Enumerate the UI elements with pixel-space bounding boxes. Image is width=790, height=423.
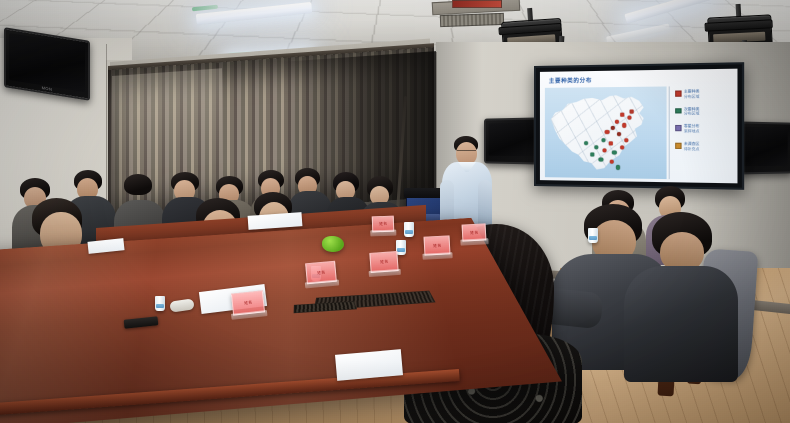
- name-placard-1: 姓名: [305, 261, 337, 285]
- slide-body: 主要种类分布区域次要种类分布区域零星分布采样地点未调查区待补充点: [545, 86, 732, 180]
- legend-swatch-2: [675, 125, 681, 131]
- name-placard-3: 姓名: [424, 235, 451, 255]
- table-green-item-0: [322, 236, 344, 252]
- map-marker-19: [616, 165, 620, 169]
- wall-monitor-center-screen: [489, 123, 539, 157]
- projection-screen[interactable]: 主要种类的分布 主要种类分布区域次要种类分布区域零星分布采样地点未调查区待补充点: [534, 62, 744, 190]
- wall-monitor-left-brand: MON: [42, 85, 53, 92]
- name-placard-4: 姓名: [462, 223, 487, 241]
- name-placard-2: 姓名: [369, 251, 398, 273]
- attendee-right-front-2: [624, 212, 740, 382]
- water-cup-4: [588, 228, 598, 243]
- ceiling-panel-red: [452, 0, 502, 8]
- map-markers: [545, 86, 667, 87]
- legend-item-2: 零星分布采样地点: [675, 124, 730, 134]
- map-marker-5: [629, 110, 633, 114]
- name-placard-text-1: 姓名: [317, 269, 326, 275]
- name-placard-5: 姓名: [372, 216, 395, 233]
- china-map: [545, 86, 667, 179]
- name-placard-text-5: 姓名: [379, 221, 388, 227]
- presentation-slide: 主要种类的分布 主要种类分布区域次要种类分布区域零星分布采样地点未调查区待补充点: [540, 69, 738, 184]
- map-marker-14: [590, 152, 594, 156]
- ceiling-vent-1: [440, 13, 504, 27]
- map-marker-9: [609, 142, 613, 146]
- province-borders: [549, 91, 657, 174]
- map-marker-13: [620, 145, 624, 149]
- name-placard-text-3: 姓名: [433, 242, 442, 248]
- legend-swatch-3: [675, 143, 681, 149]
- slide-legend: 主要种类分布区域次要种类分布区域零星分布采样地点未调查区待补充点: [669, 86, 732, 180]
- map-marker-16: [610, 160, 614, 164]
- legend-label-2: 零星分布采样地点: [684, 124, 700, 134]
- slide-title: 主要种类的分布: [549, 76, 592, 85]
- legend-item-1: 次要种类分布区域: [675, 107, 730, 117]
- legend-swatch-0: [675, 90, 681, 96]
- legend-label-0: 主要种类分布区域: [684, 89, 700, 99]
- name-placard-text-0: 姓名: [244, 300, 253, 307]
- wall-monitor-right-screen: [737, 127, 787, 167]
- name-placard-text-2: 姓名: [380, 259, 389, 265]
- attendee-right-front-2-suit: [624, 266, 738, 382]
- water-cup-3: [404, 222, 414, 237]
- legend-label-3: 未调查区待补充点: [684, 142, 700, 152]
- legend-swatch-1: [675, 108, 681, 114]
- legend-item-3: 未调查区待补充点: [675, 142, 730, 152]
- name-placard-base-5: [370, 230, 396, 237]
- name-placard-0: 姓名: [231, 290, 265, 315]
- legend-label-1: 次要种类分布区域: [684, 107, 700, 117]
- presenter-glasses: [457, 150, 476, 155]
- name-placard-text-4: 姓名: [470, 229, 479, 235]
- water-cup-2: [396, 240, 406, 255]
- legend-item-0: 主要种类分布区域: [675, 89, 730, 99]
- conference-room-photo: MON 主要种类的分布 主要种类分布区域次要种类分布区域零星分布采样地点未调查区…: [0, 0, 790, 423]
- map-marker-1: [620, 112, 624, 116]
- wall-monitor-left-screen: [9, 33, 85, 92]
- water-cup-0: [155, 296, 165, 311]
